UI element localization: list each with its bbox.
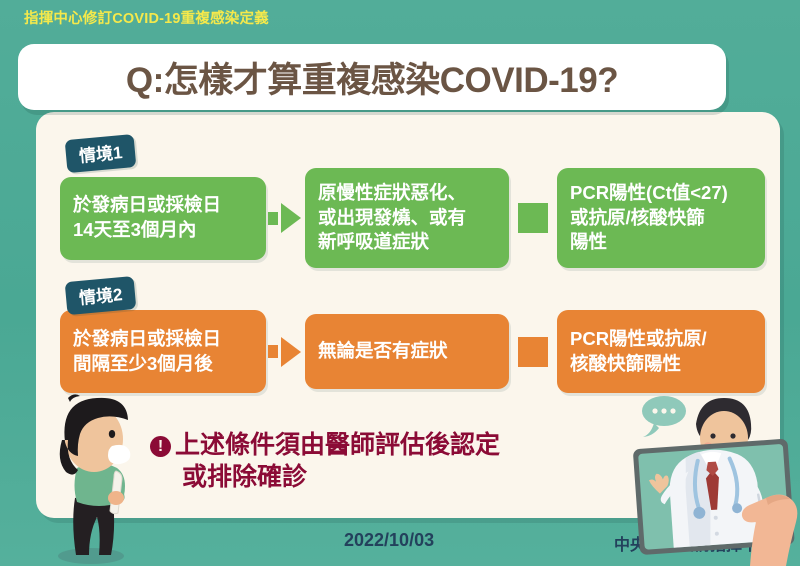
plus-icon-1 [518,203,548,233]
scenario-1-condition-line-2: 14天至3個月內 [73,218,253,243]
scenario-1-flow: 於發病日或採檢日 14天至3個月內 原慢性症狀惡化、 或出現發燒、或有 新呼吸道… [60,168,765,268]
scenario-1-test-line-3: 陽性 [570,230,752,255]
page-title: Q:怎樣才算重複感染COVID-19? [126,52,618,103]
arrow-right-icon-stem-2 [268,345,278,358]
scenario-row-1: 情境1 於發病日或採檢日 14天至3個月內 原慢性症狀惡化、 或出現發燒、或有 … [60,168,765,268]
doctor-eye-right [730,433,735,438]
footnote-line-1: !上述條件須由醫師評估後認定 [150,430,500,462]
person-with-megaphone-illustration [28,392,178,566]
footer-date: 2022/10/03 [344,530,434,551]
arrow-right-icon-2 [281,337,301,367]
scenario-1-condition-line-1: 於發病日或採檢日 [73,193,253,218]
doctor-on-tablet-illustration [616,378,800,566]
scenario-1-badge: 情境1 [65,134,137,173]
scenario-2-test-line-1: PCR陽性或抗原/ [570,327,752,352]
scenario-2-condition-line-2: 間隔至少3個月後 [73,352,253,377]
scenario-2-symptom-line-1: 無論是否有症狀 [318,339,496,364]
footnote-text-2: 或排除確診 [150,462,500,494]
scenario-1-test-line-1: PCR陽性(Ct值<27) [570,181,752,206]
eyebrow-title: 指揮中心修訂COVID-19重複感染定義 [24,7,269,28]
title-card: Q:怎樣才算重複感染COVID-19? [18,44,726,110]
scenario-2-test-line-2: 核酸快篩陽性 [570,352,752,377]
doctor-eye-left [710,433,715,438]
scenario-2-condition-box: 於發病日或採檢日 間隔至少3個月後 [60,310,266,393]
scenario-2-condition-line-1: 於發病日或採檢日 [73,327,253,352]
scenario-1-test-line-2: 或抗原/核酸快篩 [570,206,752,231]
scenario-2-symptom-box: 無論是否有症狀 [305,314,509,389]
character-shadow [58,548,124,564]
arrow-right-icon-1 [281,203,301,233]
arrow-right-icon-stem-1 [268,212,278,225]
scenario-1-symptom-line-3: 新呼吸道症狀 [318,230,496,255]
speech-bubble-icon [642,396,686,437]
character-hand [108,491,124,505]
scenario-1-condition-box: 於發病日或採檢日 14天至3個月內 [60,177,266,260]
character-eye [109,430,115,438]
scenario-1-symptom-line-1: 原慢性症狀惡化、 [318,181,496,206]
character-hair-tuft [68,394,80,402]
footnote: !上述條件須由醫師評估後認定 或排除確診 [150,430,500,493]
infographic-canvas: 指揮中心修訂COVID-19重複感染定義 Q:怎樣才算重複感染COVID-19?… [0,0,800,566]
scenario-1-symptom-box: 原慢性症狀惡化、 或出現發燒、或有 新呼吸道症狀 [305,168,509,268]
character-mouth [108,445,130,464]
footnote-text-1: 上述條件須由醫師評估後認定 [175,431,500,459]
scenario-1-symptom-line-2: 或出現發燒、或有 [318,206,496,231]
plus-icon-2 [518,337,548,367]
scenario-2-badge: 情境2 [65,276,137,315]
scenario-1-test-box: PCR陽性(Ct值<27) 或抗原/核酸快篩 陽性 [557,168,765,268]
